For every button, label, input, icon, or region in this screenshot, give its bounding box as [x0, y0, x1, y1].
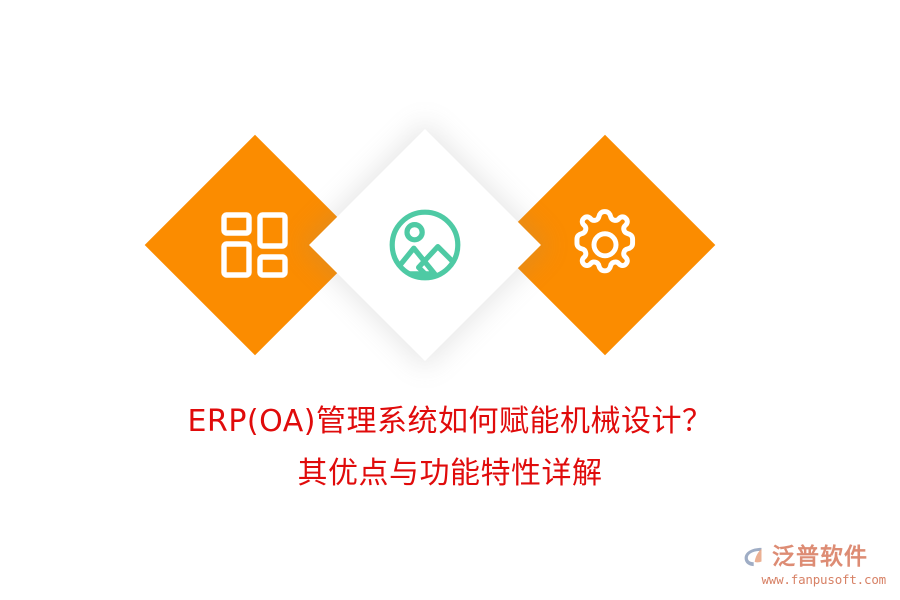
diamond-icon-cluster	[0, 0, 900, 400]
gear-icon	[567, 207, 643, 283]
watermark-brand-text: 泛普软件	[772, 544, 868, 570]
watermark-logo-row: 泛普软件	[742, 542, 888, 572]
diamond-tile-image[interactable]	[309, 129, 541, 361]
title-line-1: ERP(OA)管理系统如何赋能机械设计？	[0, 396, 900, 448]
fanpu-logo-icon	[742, 544, 768, 570]
image-icon-wrapper	[343, 163, 507, 327]
poster-canvas: ERP(OA)管理系统如何赋能机械设计？ 其优点与功能特性详解 泛普软件 www…	[0, 0, 900, 600]
watermark: 泛普软件 www.fanpusoft.com	[742, 542, 888, 588]
watermark-url-text: www.fanpusoft.com	[742, 572, 888, 588]
title-line-2: 其优点与功能特性详解	[0, 448, 900, 500]
poster-title: ERP(OA)管理系统如何赋能机械设计？ 其优点与功能特性详解	[0, 396, 900, 500]
grid-icon	[219, 209, 291, 281]
gear-icon-wrapper	[527, 167, 683, 323]
image-icon	[385, 205, 465, 285]
